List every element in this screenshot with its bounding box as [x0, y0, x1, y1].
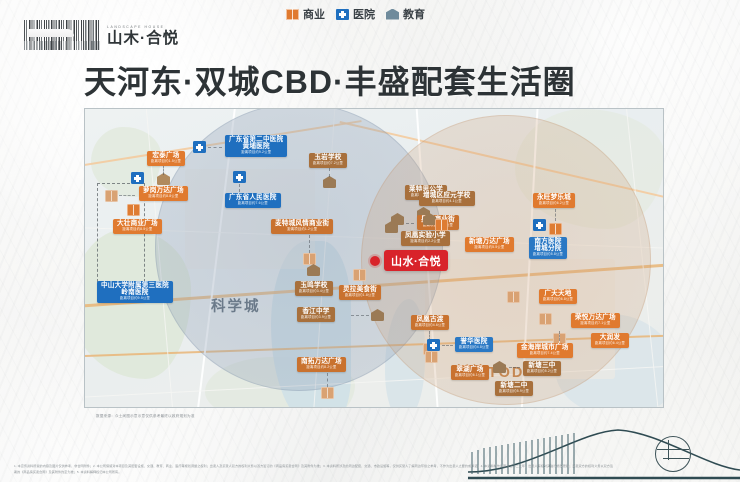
leader-line — [329, 168, 330, 177]
poi-distance: 距离项目约1.5公里 — [151, 160, 181, 164]
poi-distance: 距离项目约4.6公里 — [415, 324, 445, 328]
poi-distance: 距离项目约8.8公里 — [143, 195, 184, 199]
poi-label[interactable]: 永旺梦乐城 距离项目约6.2公里 — [533, 193, 575, 208]
poi-distance: 距离项目约3.9公里 — [301, 316, 331, 320]
shop-icon — [539, 313, 552, 325]
brand-emblem-icon — [655, 436, 691, 472]
shop-icon — [507, 291, 520, 303]
poi-label[interactable]: 麦特城风情商业街 距离项目约1.2公里 — [271, 219, 333, 234]
poi-label[interactable]: 荣悦万达广场 距离项目约7.1公里 — [571, 313, 620, 328]
leader-line — [309, 235, 310, 253]
poi-distance: 距离项目约5.2公里 — [527, 370, 557, 374]
poi-distance: 距离项目约7.6公里 — [229, 202, 277, 206]
leader-line — [555, 209, 556, 221]
project-name: 山水·合悦 — [384, 250, 448, 271]
brand-logo: LANDSCAPE HOUSE 山木·合悦 — [24, 20, 179, 50]
leader-line — [208, 147, 222, 148]
poi-distance: 距离项目约5.8公里 — [533, 253, 563, 257]
poi-distance: 距离项目约1.2公里 — [275, 228, 329, 232]
legend-label: 教育 — [403, 6, 425, 22]
shop-icon — [286, 9, 299, 20]
poi-distance: 距离项目约5.9公里 — [499, 390, 529, 394]
poi-distance: 距离项目约7.2公里 — [313, 162, 343, 166]
legend-item-hospital[interactable]: 医院 — [336, 6, 375, 22]
poi-label[interactable]: 玉岩学校 距离项目约7.2公里 — [309, 153, 347, 168]
legend-item-education[interactable]: 教育 — [386, 6, 425, 22]
poi-label[interactable]: 萝岗万达广场 距离项目约8.8公里 — [139, 186, 188, 201]
poi-label[interactable]: 大壮商业广场 距离项目约8.5公里 — [113, 219, 162, 234]
poi-label[interactable]: 南方医院 增城分院 距离项目约5.8公里 — [529, 237, 567, 259]
poi-distance: 距离项目约6.4公里 — [595, 342, 625, 346]
page-title: 天河东·双城CBD·丰盛配套生活圈 — [84, 57, 576, 103]
poi-label[interactable]: 凤凰实验小学 距离项目约2.2公里 — [401, 231, 450, 246]
hospital-icon — [233, 171, 246, 183]
leader-line — [119, 195, 135, 196]
hospital-icon — [533, 219, 546, 231]
poi-distance: 距离项目约5.5公里 — [469, 246, 510, 250]
school-icon — [386, 9, 399, 20]
poi-distance: 距离项目约2.2公里 — [405, 240, 446, 244]
poi-label[interactable]: 新塘二中 距离项目约5.9公里 — [495, 381, 533, 396]
poi-label[interactable]: 中山大学附属第三医院 岭南医院 距离项目约9.5公里 — [97, 281, 173, 303]
shop-icon — [435, 219, 448, 231]
poi-label[interactable]: 金海岸城市广场 距离项目约7.4公里 — [517, 343, 573, 358]
poi-distance: 距离项目约1.8公里 — [343, 294, 377, 298]
poi-distance: 距离项目约6.2公里 — [537, 202, 571, 206]
poi-label[interactable]: 翠湖广场 距离项目约6.1公里 — [451, 365, 489, 380]
poi-distance: 距离项目约6.1公里 — [455, 374, 485, 378]
poi-label[interactable]: 新塘三中 距离项目约5.2公里 — [523, 361, 561, 376]
leader-line — [509, 367, 520, 368]
project-dot-icon — [370, 256, 380, 266]
poi-label[interactable]: 宏泰广场 距离项目约1.5公里 — [147, 151, 185, 166]
hospital-icon — [427, 339, 440, 351]
poi-distance: 距离项目约9.5公里 — [101, 297, 169, 301]
shop-icon — [549, 223, 562, 235]
leader-line — [442, 345, 453, 346]
poi-label[interactable]: 灵拉美食街 距离项目约1.8公里 — [339, 285, 381, 300]
shop-icon — [425, 351, 438, 363]
shop-icon — [127, 204, 140, 216]
poi-distance: 距离项目约9.2公里 — [229, 151, 283, 155]
poi-label[interactable]: 增城区应元学校 距离项目约4.1公里 — [419, 191, 475, 206]
hospital-icon — [193, 141, 206, 153]
shop-icon — [105, 190, 118, 202]
hospital-icon — [131, 172, 144, 184]
poi-label[interactable]: 新塘万达广场 距离项目约5.5公里 — [465, 237, 514, 252]
poi-label[interactable]: 广东省第二中医院 黄埔医院 距离项目约9.2公里 — [225, 135, 287, 157]
legal-disclaimer: 1. 本宣传资料所载的内容及图片仅供参考，非合同附件；2. 本公司保留对本项目及… — [14, 464, 614, 476]
poi-label[interactable]: 广天天地 距离项目约6.8公里 — [539, 289, 577, 304]
map-legend: 商业 医院 教育 — [286, 6, 425, 22]
poi-distance: 距离项目约3.4公里 — [299, 290, 329, 294]
legend-label: 商业 — [303, 6, 325, 22]
map-source-note: 数据来源：众土间图示意示意仅供参考最终以政府规划为准 — [96, 414, 195, 419]
leader-line — [559, 331, 560, 341]
poi-label[interactable]: 香江中学 距离项目约3.9公里 — [297, 307, 335, 322]
brand-logo-cn: 山木·合悦 — [107, 30, 179, 47]
poi-distance: 距离项目约8.5公里 — [117, 228, 158, 232]
poi-distance: 距离项目约7.1公里 — [575, 322, 616, 326]
location-map[interactable]: 科学城 新塘TOD 宏泰广场 距离项目约1.5公里 萝岗万达广场 距离项目约8.… — [84, 108, 664, 408]
shop-icon — [321, 387, 334, 399]
barcode-logo-icon — [24, 20, 100, 50]
project-marker[interactable]: 山水·合悦 — [370, 250, 448, 271]
leader-line — [163, 165, 164, 175]
poi-distance: 距离项目约4.8公里 — [459, 346, 489, 350]
poi-label[interactable]: 凤凰古渡 距离项目约4.6公里 — [411, 315, 449, 330]
poi-label[interactable]: 誉华医院 距离项目约4.8公里 — [455, 337, 493, 352]
poi-distance: 距离项目约4.1公里 — [423, 200, 471, 204]
poi-label[interactable]: 广东省人民医院 距离项目约7.6公里 — [225, 193, 281, 208]
poi-distance: 距离项目约8.2公里 — [301, 366, 342, 370]
legend-item-commerce[interactable]: 商业 — [286, 6, 325, 22]
region-label-kexuecheng: 科学城 — [211, 295, 261, 316]
poi-label[interactable]: 玉鸣学校 距离项目约3.4公里 — [295, 281, 333, 296]
legend-label: 医院 — [353, 6, 375, 22]
poi-distance: 距离项目约7.4公里 — [521, 352, 569, 356]
shop-icon — [303, 253, 316, 265]
poi-label[interactable]: 大润发 距离项目约6.4公里 — [591, 333, 629, 348]
poi-distance: 距离项目约6.8公里 — [543, 298, 573, 302]
poi-label[interactable]: 南拓万达广场 距离项目约8.2公里 — [297, 357, 346, 372]
hospital-icon — [336, 9, 349, 20]
leader-line — [239, 184, 240, 192]
leader-line — [327, 373, 328, 387]
leader-line — [351, 315, 369, 316]
shop-icon — [353, 269, 366, 281]
map-canvas: 科学城 新塘TOD 宏泰广场 距离项目约1.5公里 萝岗万达广场 距离项目约8.… — [85, 109, 663, 407]
